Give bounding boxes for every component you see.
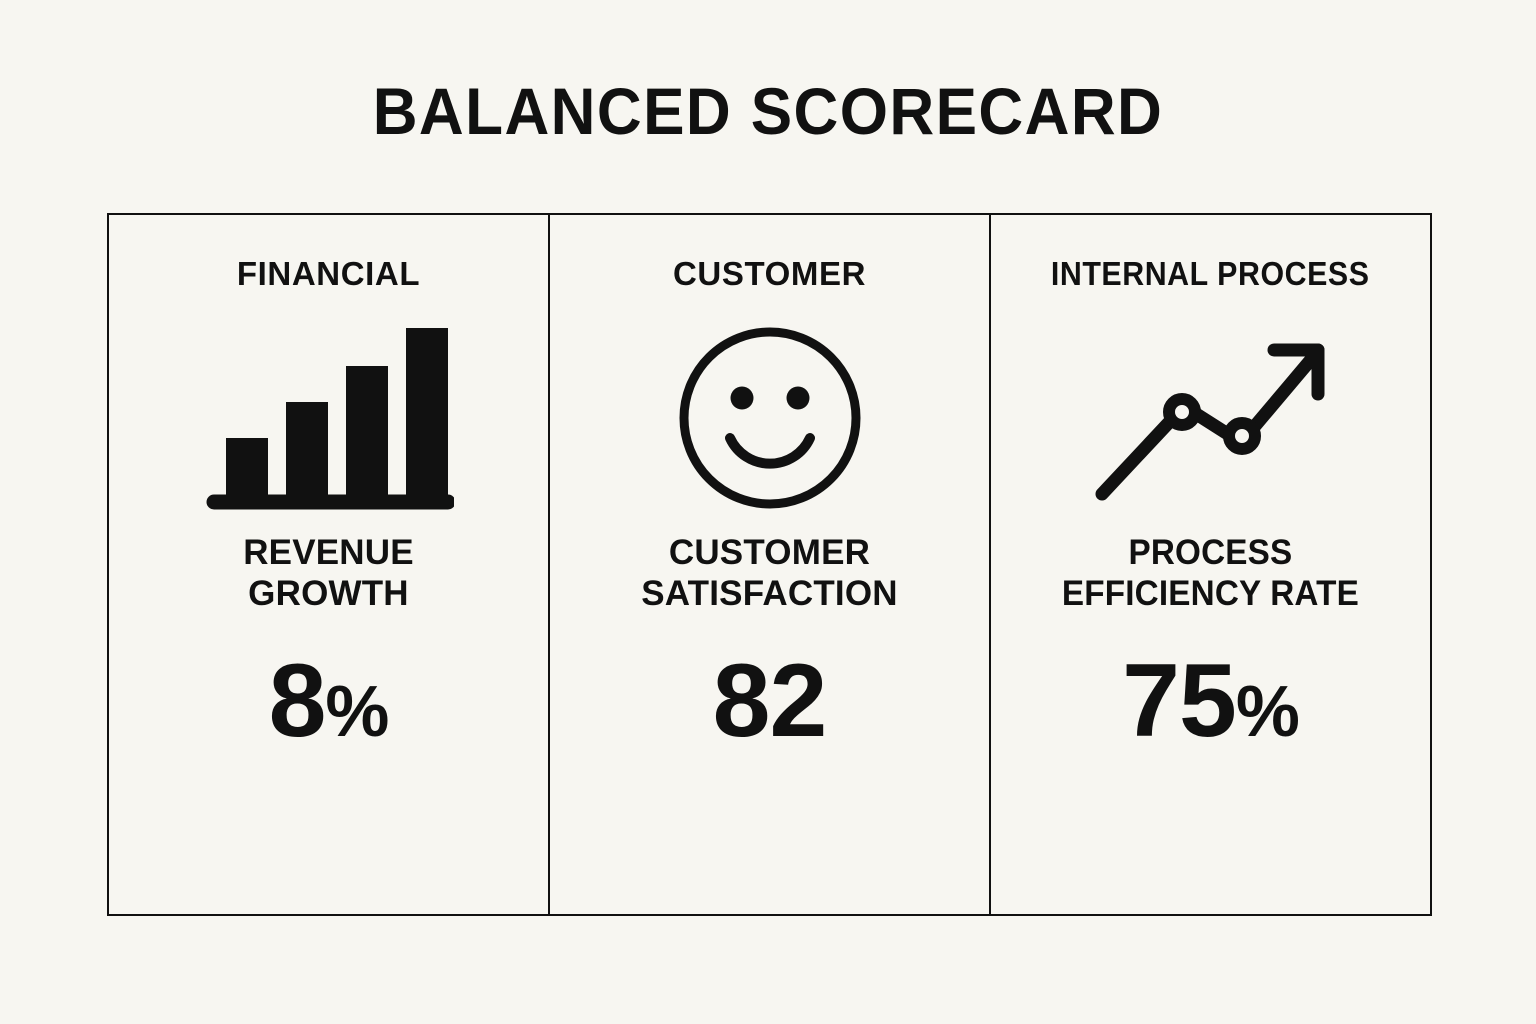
icon-area-financial xyxy=(204,310,454,525)
icon-area-internal-process xyxy=(1086,310,1336,525)
card-header-financial: FINANCIAL xyxy=(237,257,420,290)
card-label-revenue-growth: REVENUE GROWTH xyxy=(243,533,414,615)
scorecard-card-financial[interactable]: FINANCIAL REVENUE GROWTH 8% xyxy=(109,215,548,914)
icon-area-customer xyxy=(674,310,866,525)
bar-chart-icon xyxy=(204,318,454,518)
scorecard-page: BALANCED SCORECARD FINANCIAL REVENUE GRO… xyxy=(0,0,1536,1024)
scorecard-grid: FINANCIAL REVENUE GROWTH 8% xyxy=(107,213,1432,916)
smiley-face-icon xyxy=(674,322,866,514)
card-value-financial: 8% xyxy=(269,649,389,753)
card-value-internal-process: 75% xyxy=(1122,649,1299,753)
page-title: BALANCED SCORECARD xyxy=(46,78,1490,144)
card-value-number-customer: 82 xyxy=(713,643,827,759)
card-value-customer: 82 xyxy=(713,649,827,753)
card-label-process-efficiency-rate: PROCESS EFFICIENCY RATE xyxy=(1062,533,1359,615)
trend-arrow-up-icon xyxy=(1086,328,1336,508)
scorecard-card-customer[interactable]: CUSTOMER CUSTOMER SATISFACTION 82 xyxy=(548,215,989,914)
card-label-customer-satisfaction: CUSTOMER SATISFACTION xyxy=(641,533,897,615)
card-value-number-financial: 8 xyxy=(269,643,326,759)
card-value-number-internal-process: 75 xyxy=(1122,643,1236,759)
card-header-customer: CUSTOMER xyxy=(673,257,866,290)
scorecard-card-internal-process[interactable]: INTERNAL PROCESS xyxy=(989,215,1430,914)
card-value-suffix-internal-process: % xyxy=(1236,672,1299,752)
card-header-internal-process: INTERNAL PROCESS xyxy=(1051,257,1370,290)
card-value-suffix-financial: % xyxy=(325,672,388,752)
